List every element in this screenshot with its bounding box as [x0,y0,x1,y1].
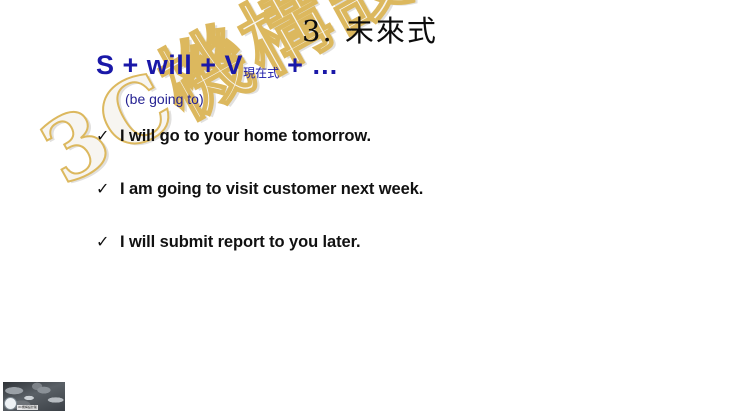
list-item: ✓ I will submit report to you later. [96,232,656,285]
formula-subscript: 現在式 [243,66,279,80]
channel-logo-icon [4,397,17,410]
list-item-label: I will submit report to you later. [120,232,360,252]
example-sentence-list: ✓ I will go to your home tomorrow. ✓ I a… [96,126,656,285]
thumbnail-caption: 3C機構設計爸 [17,405,38,410]
formula-prefix: S + will + V [96,50,243,80]
check-icon: ✓ [96,126,120,146]
page-title: 3. 未來式 [0,8,740,50]
formula-suffix: + [279,50,311,80]
channel-thumbnail: 3C機構設計爸 [3,382,65,411]
formula-alternative-note: (be going to) [125,91,204,107]
check-icon: ✓ [96,179,120,199]
list-item-label: I will go to your home tomorrow. [120,126,371,146]
check-icon: ✓ [96,232,120,252]
formula-ellipsis: … [311,50,340,80]
slide-canvas: 3C機構設計爸 3. 未來式 S + will + V現在式 + … (be g… [0,0,740,415]
list-item: ✓ I will go to your home tomorrow. [96,126,656,179]
list-item: ✓ I am going to visit customer next week… [96,179,656,232]
grammar-formula: S + will + V現在式 + … [96,50,340,81]
list-item-label: I am going to visit customer next week. [120,179,423,199]
